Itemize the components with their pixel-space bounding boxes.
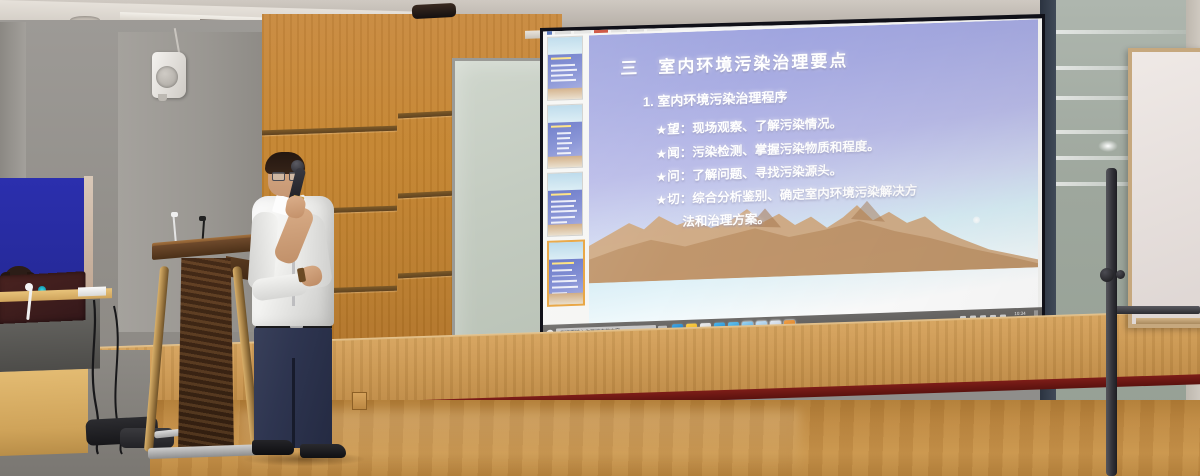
podium-microphone-head: [199, 216, 206, 221]
wall-socket-icon: [352, 392, 367, 410]
reflected-light-icon: [1098, 140, 1118, 152]
star-bullet-icon: ★: [656, 125, 666, 137]
whiteboard-tray: [1112, 306, 1200, 314]
desk-microphone-head: [25, 283, 33, 291]
whiteboard-adjust-knob[interactable]: [1116, 270, 1125, 279]
podium-microphone-head: [171, 212, 178, 217]
podium-front-panel: [178, 258, 234, 454]
whiteboard-lower-rail: [1136, 318, 1200, 324]
current-slide[interactable]: 三 室内环境污染治理要点 1. 室内环境污染治理程序 ★望：现场观察、了解污染情…: [589, 19, 1038, 323]
presenter-leg-seam: [292, 358, 295, 448]
whiteboard-adjust-knob[interactable]: [1100, 268, 1114, 282]
desk-front-panel: [0, 369, 88, 456]
star-bullet-icon: ★: [656, 194, 666, 206]
whiteboard-stand-post: [1106, 168, 1117, 476]
star-bullet-icon: ★: [656, 148, 666, 160]
speaker-bracket: [158, 94, 167, 101]
ceiling-projector: [412, 3, 457, 19]
desk-device: [78, 287, 106, 297]
slide-thumbnail[interactable]: [547, 172, 583, 237]
whiteboard[interactable]: [1128, 48, 1200, 328]
presenter-shoe: [252, 440, 294, 455]
slide-bullet-list: ★望：现场观察、了解污染情况。 ★闻：污染检测、掌握污染物质和程度。 ★问：了解…: [656, 106, 1015, 234]
slide-thumbnail-active[interactable]: [547, 239, 585, 306]
slide-thumbnail-panel[interactable]: [547, 36, 583, 325]
star-bullet-icon: ★: [656, 171, 666, 183]
slide-thumbnail[interactable]: [547, 36, 583, 101]
lecture-hall-photo: 三 室内环境污染治理要点 1. 室内环境污染治理程序 ★望：现场观察、了解污染情…: [0, 0, 1200, 476]
projection-screen-surface[interactable]: 三 室内环境污染治理要点 1. 室内环境污染治理程序 ★望：现场观察、了解污染情…: [543, 17, 1042, 361]
slide-thumbnail[interactable]: [547, 104, 583, 169]
presenter-shoe: [300, 444, 346, 458]
speaker-grille-icon: [156, 66, 178, 88]
